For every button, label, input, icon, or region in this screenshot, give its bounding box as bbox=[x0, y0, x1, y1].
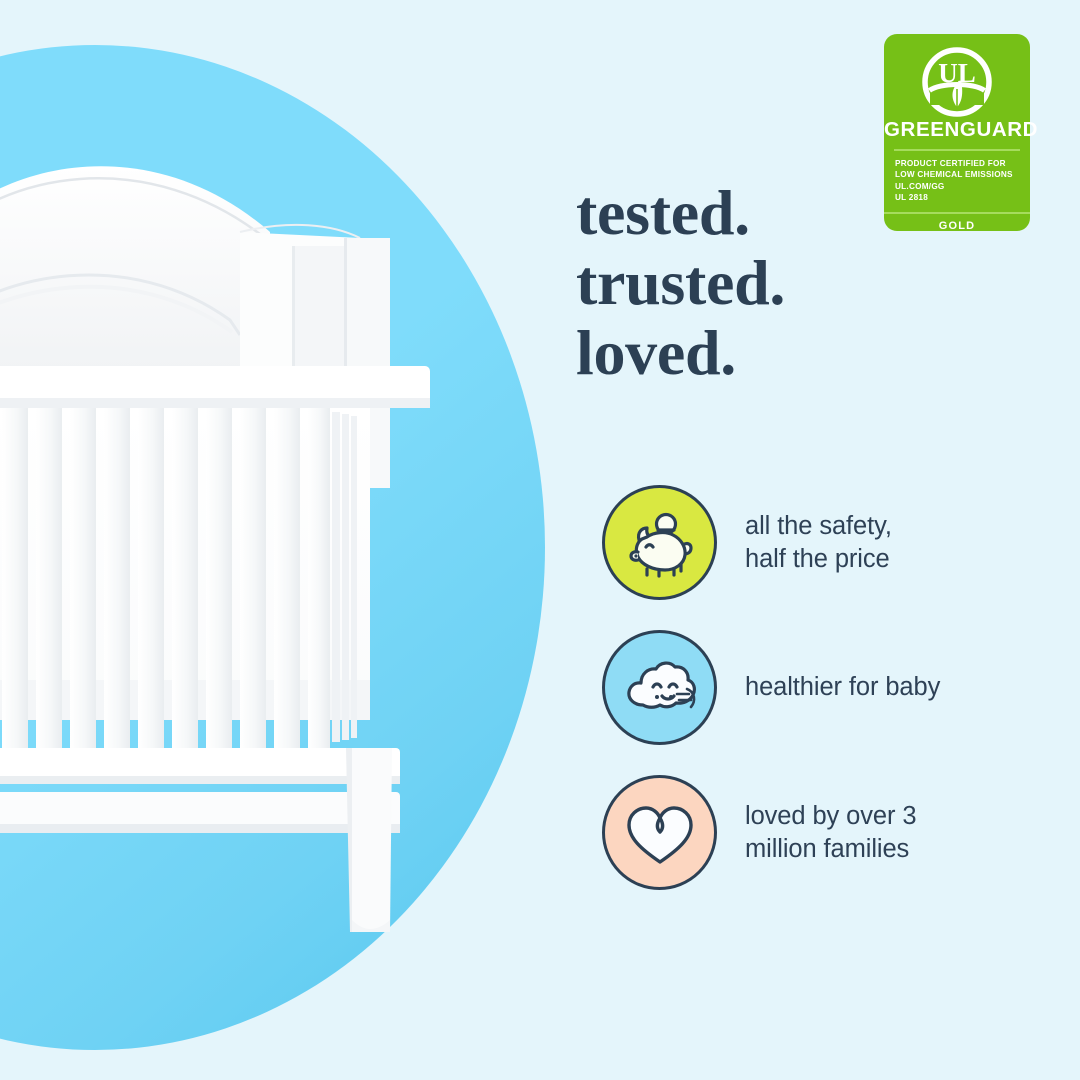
feature-item-healthier: healthier for baby bbox=[602, 615, 1032, 760]
feature-line-2: million families bbox=[745, 833, 916, 866]
badge-divider bbox=[894, 149, 1020, 151]
feature-item-safety-price: all the safety, half the price bbox=[602, 470, 1032, 615]
piggy-bank-icon bbox=[602, 485, 717, 600]
feature-line-1: healthier for baby bbox=[745, 671, 940, 704]
headline-line-3: loved. bbox=[576, 318, 1046, 388]
page-title: tested. trusted. loved. bbox=[576, 178, 1046, 388]
feature-item-loved: loved by over 3 million families bbox=[602, 760, 1032, 905]
promo-graphic: UL GREENGUARD PRODUCT CERTIFIED FOR LOW … bbox=[0, 0, 1080, 1080]
badge-title: GREENGUARD bbox=[884, 120, 1030, 141]
feature-line-1: loved by over 3 bbox=[745, 800, 916, 833]
feature-line-1: all the safety, bbox=[745, 510, 892, 543]
feature-list: all the safety, half the price bbox=[602, 470, 1032, 905]
smiling-cloud-icon bbox=[602, 630, 717, 745]
headline-line-1: tested. bbox=[576, 178, 1046, 248]
feature-label-safety-price: all the safety, half the price bbox=[745, 510, 892, 576]
badge-line-1: PRODUCT CERTIFIED FOR bbox=[895, 158, 1030, 170]
ul-leaf-icon: UL bbox=[884, 34, 1030, 122]
feature-line-2: half the price bbox=[745, 543, 892, 576]
feature-label-healthier: healthier for baby bbox=[745, 671, 940, 704]
headline-line-2: trusted. bbox=[576, 248, 1046, 318]
crib-product-image bbox=[0, 120, 500, 960]
feature-label-loved: loved by over 3 million families bbox=[745, 800, 916, 866]
heart-icon bbox=[602, 775, 717, 890]
